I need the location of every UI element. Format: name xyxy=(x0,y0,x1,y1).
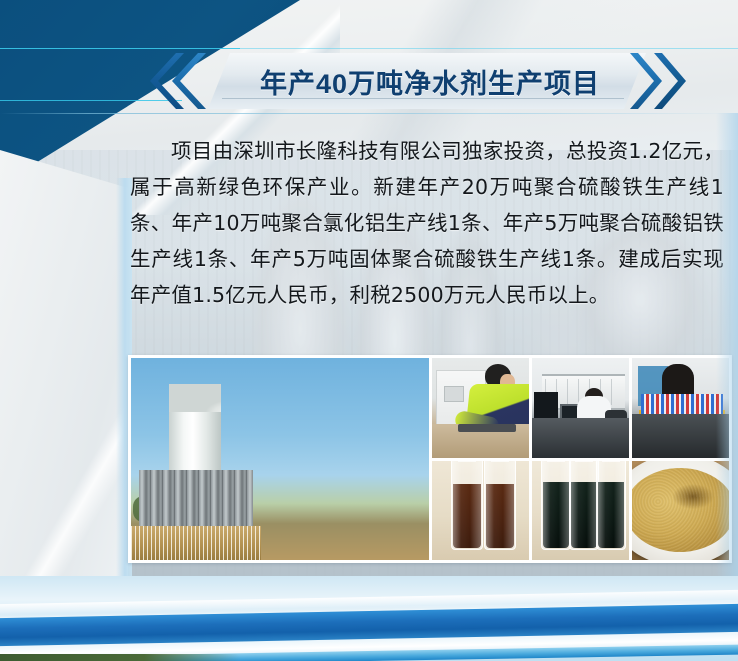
gallery-photo-cryogenic-storage-tank xyxy=(131,358,429,560)
gallery-photo-laboratory-control-room xyxy=(532,358,629,458)
brown-bottle-1-glass xyxy=(451,461,483,551)
dark-bottle-3 xyxy=(596,461,626,551)
tech-photo-bench xyxy=(632,414,729,458)
chevron-right-outer-icon xyxy=(650,53,686,109)
dark-bottle-3-glass xyxy=(596,461,626,551)
dark-bottle-1 xyxy=(541,461,571,551)
chevron-left-inner-icon xyxy=(172,53,206,109)
gallery-bottom-row xyxy=(432,461,730,561)
tank-photo-fence xyxy=(131,526,261,560)
bottom-band-green-accent xyxy=(0,654,240,661)
photo-gallery xyxy=(128,355,732,563)
title-banner: 年产40万吨净水剂生产项目 xyxy=(150,53,710,109)
gallery-photo-brown-liquid-bottles xyxy=(432,461,529,561)
gallery-photo-worker-at-equipment xyxy=(432,358,529,458)
right-edge-fade xyxy=(716,113,738,583)
brown-bottle-1 xyxy=(451,461,483,551)
slide-root: 年产40万吨净水剂生产项目 项目由深圳市长隆科技有限公司独家投资，总投资1.2亿… xyxy=(0,0,738,661)
gallery-top-row xyxy=(432,358,730,458)
gallery-right-column xyxy=(432,358,730,560)
gallery-photo-dark-liquid-bottles xyxy=(532,461,629,561)
brown-bottle-2 xyxy=(484,461,516,551)
project-description: 项目由深圳市长隆科技有限公司独家投资，总投资1.2亿元，属于高新绿色环保产业。新… xyxy=(130,133,724,313)
gallery-photo-yellow-powder-dish xyxy=(632,461,729,561)
powder-photo-grain-texture xyxy=(632,468,729,552)
worker-photo-cabinet-panel xyxy=(444,386,464,402)
dark-bottle-2 xyxy=(569,461,599,551)
dark-bottle-2-glass xyxy=(569,461,599,551)
left-panel-edge-highlight xyxy=(0,150,132,590)
worker-photo-instrument xyxy=(458,424,516,432)
dark-bottle-1-glass xyxy=(541,461,571,551)
lab-photo-desk xyxy=(532,418,629,458)
brown-bottle-2-glass xyxy=(484,461,516,551)
gallery-photo-technician-test-tube-rack xyxy=(632,358,729,458)
banner-underline xyxy=(0,113,738,114)
bottom-decorative-band xyxy=(0,576,738,661)
cyan-rule-upper xyxy=(0,48,240,49)
page-title: 年产40万吨净水剂生产项目 xyxy=(230,53,630,109)
